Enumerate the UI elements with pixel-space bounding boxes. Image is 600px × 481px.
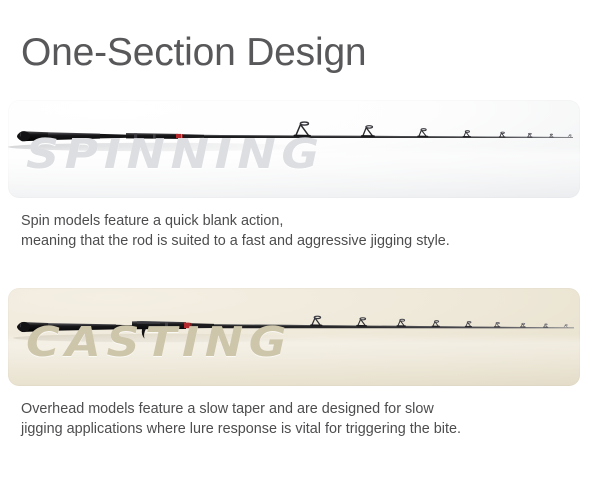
page-title: One-Section Design [21,31,366,76]
spinning-rod-panel: SPINNING [8,100,580,198]
casting-wordmark: CASTING [26,322,292,363]
spinning-caption: Spin models feature a quick blank action… [21,211,587,251]
casting-caption-line-1: Overhead models feature a slow taper and… [21,399,587,419]
casting-caption: Overhead models feature a slow taper and… [21,399,587,439]
spinning-caption-line-1: Spin models feature a quick blank action… [21,211,587,231]
spinning-caption-line-2: meaning that the rod is suited to a fast… [21,231,587,251]
casting-rod-panel: CASTING [8,288,580,386]
casting-caption-line-2: jigging applications where lure response… [21,419,587,439]
page-root: One-Section Design [0,0,600,481]
spinning-wordmark: SPINNING [26,134,325,175]
